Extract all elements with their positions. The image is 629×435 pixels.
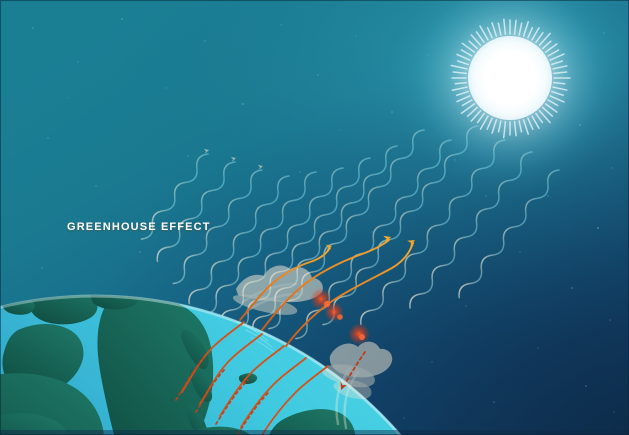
hotspot-dot <box>348 323 370 345</box>
hotspot-dot <box>337 314 343 320</box>
sun-core <box>468 36 552 120</box>
hotspot-dot <box>324 301 330 307</box>
scene-svg <box>0 0 629 435</box>
hotspot-dot <box>359 334 365 340</box>
greenhouse-effect-illustration: GREENHOUSE EFFECT <box>0 0 629 435</box>
